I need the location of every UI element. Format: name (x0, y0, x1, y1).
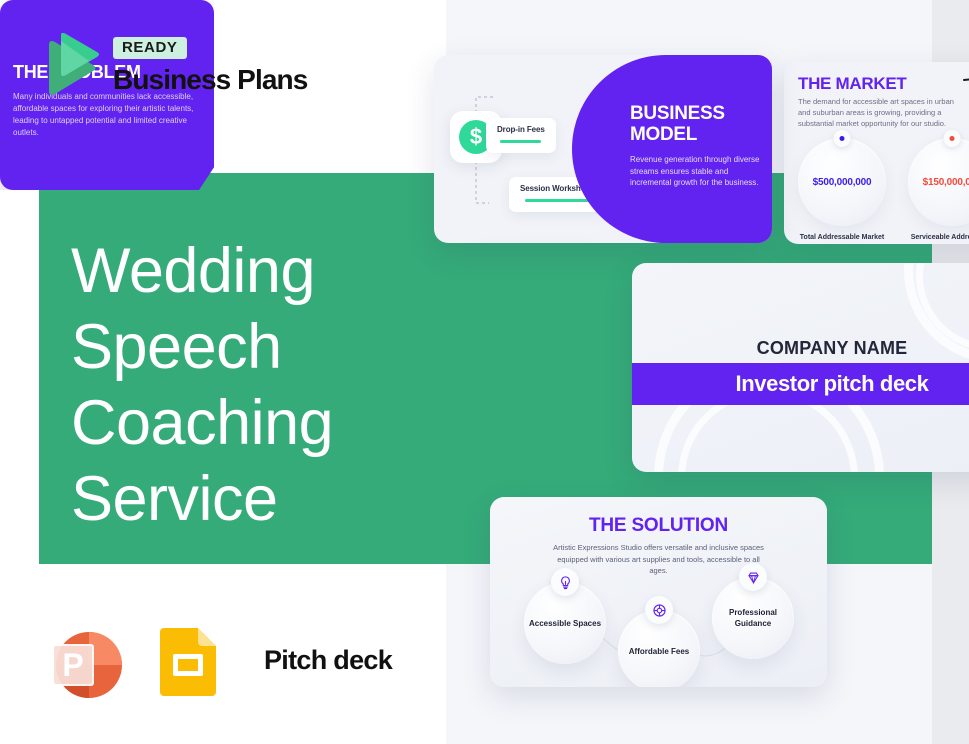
solution-node[interactable]: Affordable Fees (618, 610, 700, 687)
market-metric-dot-cap (944, 130, 961, 147)
slide-the-solution[interactable]: THE SOLUTION Artistic Expressions Studio… (490, 497, 827, 687)
slide-investor-pitch-deck[interactable]: COMPANY NAME Investor pitch deck (632, 263, 969, 472)
brand-name: Business Plans (113, 64, 307, 96)
business-model-item-bar (500, 140, 541, 143)
lifebuoy-icon (645, 596, 673, 624)
market-metric-dot-cap (834, 130, 851, 147)
diamond-icon (739, 563, 767, 591)
business-model-purple-panel: BUSINESS MODEL Revenue generation throug… (572, 55, 772, 243)
pitch-subtitle: Investor pitch deck (736, 371, 929, 397)
page-title-line-1: Wedding (71, 233, 431, 309)
pitch-subtitle-bar: Investor pitch deck (632, 363, 969, 405)
pitch-company-name: COMPANY NAME (632, 338, 969, 359)
business-model-description: Revenue generation through diverse strea… (630, 154, 760, 189)
page-title: Wedding Speech Coaching Service (71, 233, 431, 537)
curved-arrow-icon (962, 74, 969, 137)
lightbulb-icon (551, 568, 579, 596)
business-model-item[interactable]: Drop-in Fees (486, 118, 556, 153)
solution-node-label: Professional Guidance (712, 607, 794, 629)
solution-node-label: Accessible Spaces (529, 618, 601, 629)
powerpoint-icon[interactable]: P (42, 618, 126, 702)
brand-text-block: READY Business Plans (113, 37, 307, 96)
page-title-line-4: Service (71, 461, 431, 537)
brand-logo[interactable]: READY Business Plans (41, 33, 307, 99)
solution-node[interactable]: Accessible Spaces (524, 582, 606, 664)
file-format-label: Pitch deck (264, 645, 392, 676)
page-title-line-2: Speech (71, 309, 431, 385)
business-model-title: BUSINESS MODEL (630, 103, 760, 145)
market-metric-caption: Serviceable Addressable Market (SAM) (908, 233, 969, 244)
solution-node[interactable]: Professional Guidance (712, 577, 794, 659)
solution-node-label: Affordable Fees (629, 646, 689, 657)
market-title: THE MARKET (798, 74, 906, 94)
market-metric-caption: Total Addressable Market (TAM) (798, 233, 886, 244)
market-metrics: $500,000,000 Total Addressable Market (T… (798, 138, 969, 244)
market-metric-dot (950, 136, 955, 141)
page-title-line-3: Coaching (71, 385, 431, 461)
svg-text:P: P (62, 647, 83, 683)
market-metric-disc: $500,000,000 (798, 138, 886, 226)
slide-business-model[interactable]: $ Drop-in Fees Session Workshops Commiss… (434, 55, 772, 243)
ready-badge: READY (113, 37, 187, 59)
file-format-row: P Pitch deck (42, 618, 392, 702)
market-description: The demand for accessible art spaces in … (798, 96, 960, 129)
market-metric[interactable]: $150,000,000 Serviceable Addressable Mar… (908, 138, 969, 244)
market-metric[interactable]: $500,000,000 Total Addressable Market (T… (798, 138, 886, 244)
solution-node-bubble: Accessible Spaces (524, 582, 606, 664)
poster-canvas: READY Business Plans Wedding Speech Coac… (0, 0, 969, 744)
business-model-item-bar (525, 199, 589, 202)
market-metric-value: $500,000,000 (813, 177, 872, 188)
google-slides-icon[interactable] (146, 618, 230, 702)
business-model-item-label: Drop-in Fees (497, 125, 545, 134)
slide-the-market[interactable]: THE MARKET The demand for accessible art… (784, 62, 969, 244)
solution-node-bubble: Professional Guidance (712, 577, 794, 659)
market-metric-dot (840, 136, 845, 141)
market-metric-disc: $150,000,000 (908, 138, 969, 226)
market-metric-value: $150,000,000 (923, 177, 969, 188)
play-triangle-logo-icon (41, 33, 101, 99)
solution-node-bubble: Affordable Fees (618, 610, 700, 687)
